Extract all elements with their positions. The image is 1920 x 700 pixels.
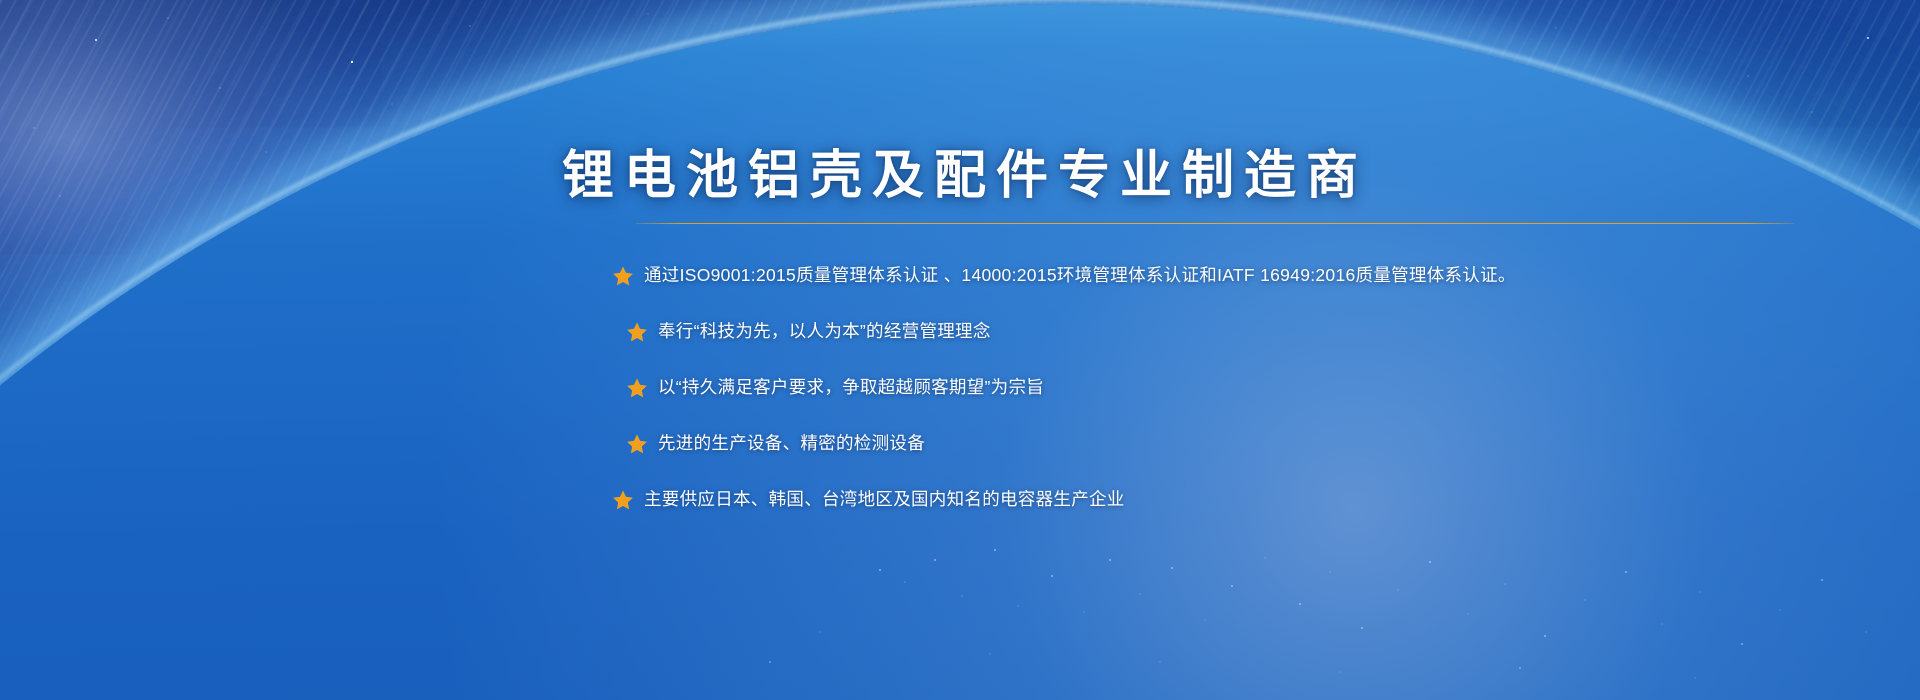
star-icon — [626, 321, 648, 343]
star-icon — [612, 489, 634, 511]
title-divider — [636, 223, 1794, 224]
star-icon — [612, 265, 634, 287]
list-item-label: 主要供应日本、韩国、台湾地区及国内知名的电容器生产企业 — [644, 488, 1125, 512]
list-item: 通过ISO9001:2015质量管理体系认证 、14000:2015环境管理体系… — [612, 248, 1872, 304]
list-item-label: 通过ISO9001:2015质量管理体系认证 、14000:2015环境管理体系… — [644, 264, 1516, 288]
star-icon — [626, 433, 648, 455]
hero-banner: 锂电池铝壳及配件专业制造商 通过ISO9001:2015质量管理体系认证 、14… — [0, 0, 1920, 700]
list-item-label: 先进的生产设备、精密的检测设备 — [658, 432, 925, 456]
list-item-label: 奉行“科技为先，以人为本”的经营管理理念 — [658, 320, 991, 344]
list-item: 主要供应日本、韩国、台湾地区及国内知名的电容器生产企业 — [612, 472, 1872, 528]
list-item-label: 以“持久满足客户要求，争取超越顾客期望”为宗旨 — [658, 376, 1044, 400]
list-item: 以“持久满足客户要求，争取超越顾客期望”为宗旨 — [626, 360, 1872, 416]
star-icon — [626, 377, 648, 399]
list-item: 先进的生产设备、精密的检测设备 — [626, 416, 1872, 472]
page-title: 锂电池铝壳及配件专业制造商 — [0, 150, 1920, 202]
banner-content: 锂电池铝壳及配件专业制造商 通过ISO9001:2015质量管理体系认证 、14… — [0, 0, 1920, 700]
feature-list: 通过ISO9001:2015质量管理体系认证 、14000:2015环境管理体系… — [612, 248, 1872, 528]
list-item: 奉行“科技为先，以人为本”的经营管理理念 — [626, 304, 1872, 360]
